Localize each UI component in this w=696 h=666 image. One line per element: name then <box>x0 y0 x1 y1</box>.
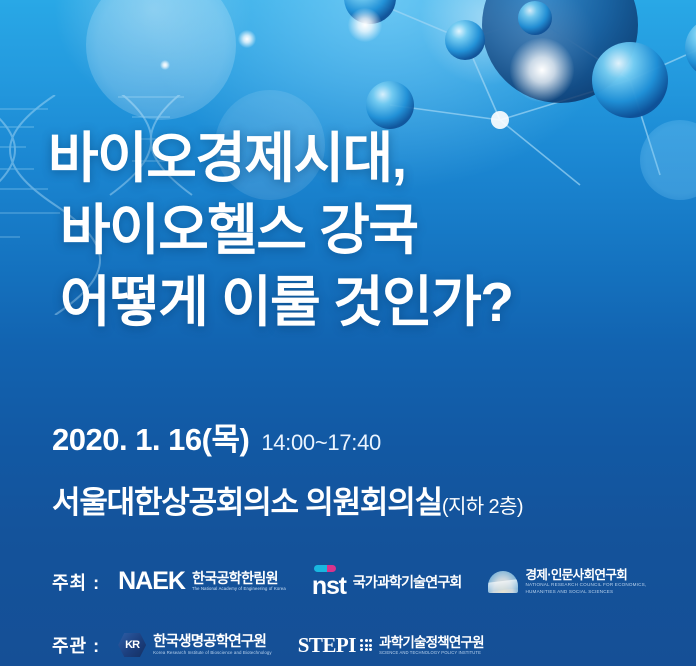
event-info: 2020. 1. 16(목) 14:00~17:40 서울대한상공회의소 의원회… <box>52 414 672 522</box>
nrc-name-en: NATIONAL RESEARCH COUNCIL FOR ECONOMICS,… <box>526 582 666 595</box>
nrc-emblem-icon <box>488 571 518 593</box>
event-time: 14:00~17:40 <box>261 430 381 456</box>
naek-name-ko: 한국공학한림원 <box>192 571 286 586</box>
naek-wordmark: NAEK <box>118 567 185 596</box>
kribb-name-en: Korea Research Institute of Bioscience a… <box>153 650 272 656</box>
host-label: 주최 : <box>52 569 100 595</box>
managing-organizations-row: 주관 : KR 한국생명공학연구원 Korea Research Institu… <box>52 632 510 658</box>
nst-wordmark: nst <box>312 574 346 598</box>
stepi-wordmark: STEPI <box>298 633 356 658</box>
logo-stepi: STEPI 과학기술정책연구원 SCIENCE AND TECHNOLOGY P… <box>298 633 484 658</box>
stepi-dots-icon <box>360 639 372 651</box>
glow-accent-1 <box>510 38 574 102</box>
event-venue: 서울대한상공회의소 의원회의실 <box>52 477 442 522</box>
logo-naek: NAEK 한국공학한림원 The National Academy of Eng… <box>118 567 286 596</box>
managed-by-label: 주관 : <box>52 632 100 658</box>
kribb-emblem-icon: KR <box>118 633 146 657</box>
glow-accent-4 <box>160 60 170 70</box>
poster-headline: 바이오경제시대, 바이오헬스 강국 어떻게 이룰 것인가? <box>48 122 668 338</box>
headline-line-1: 바이오경제시대, <box>48 122 668 194</box>
stepi-name-ko: 과학기술정책연구원 <box>379 635 484 650</box>
kribb-name-ko: 한국생명공학연구원 <box>153 634 272 650</box>
nst-name-ko: 국가과학기술연구회 <box>353 572 462 592</box>
event-date: 2020. 1. 16(목) <box>52 414 249 459</box>
headline-line-2: 바이오헬스 강국 <box>48 194 668 266</box>
glow-accent-2 <box>348 8 382 42</box>
naek-name-en: The National Academy of Engineering of K… <box>192 586 286 592</box>
stepi-name-en: SCIENCE AND TECHNOLOGY POLICY INSTITUTE <box>379 650 484 656</box>
nst-pill-icon <box>314 565 336 572</box>
conference-poster: 바이오경제시대, 바이오헬스 강국 어떻게 이룰 것인가? 2020. 1. 1… <box>0 0 696 666</box>
host-organizations-row: 주최 : NAEK 한국공학한림원 The National Academy o… <box>52 565 692 598</box>
glow-accent-3 <box>238 30 256 48</box>
logo-nst: nst 국가과학기술연구회 <box>312 565 462 598</box>
bokeh-circle-1 <box>86 0 236 120</box>
logo-kribb: KR 한국생명공학연구원 Korea Research Institute of… <box>118 633 272 657</box>
headline-line-3: 어떻게 이룰 것인가? <box>48 266 668 338</box>
logo-nrc: 경제·인문사회연구회 NATIONAL RESEARCH COUNCIL FOR… <box>488 568 666 595</box>
event-venue-row: 서울대한상공회의소 의원회의실 (지하 2층) <box>52 477 672 522</box>
nrc-name-ko: 경제·인문사회연구회 <box>526 568 666 582</box>
event-venue-detail: (지하 2층) <box>442 490 523 519</box>
event-date-row: 2020. 1. 16(목) 14:00~17:40 <box>52 414 672 459</box>
